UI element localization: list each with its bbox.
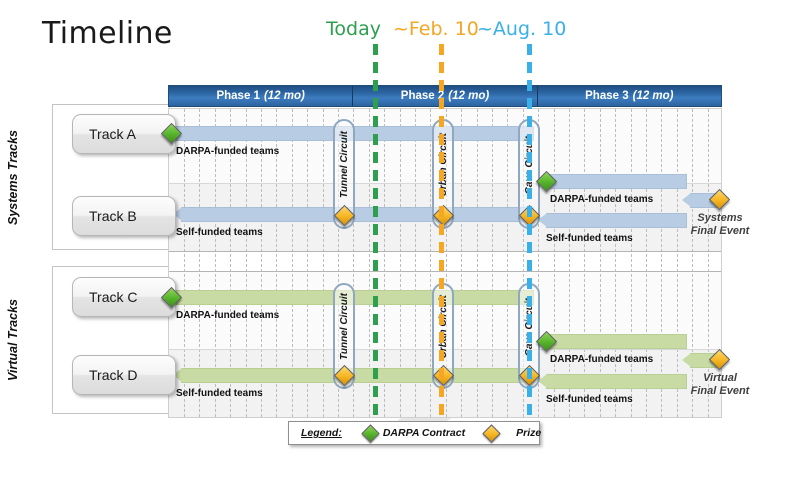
legend-label-prize: Prize <box>516 427 541 439</box>
legend-item-prize: Prize <box>485 427 541 440</box>
row-separator <box>169 251 721 252</box>
circuit-cave-virtual[interactable]: Cave Circuit <box>518 283 540 389</box>
track-box-b[interactable]: Track B <box>72 196 176 236</box>
track-box-d[interactable]: Track D <box>72 355 176 395</box>
gridline-v <box>554 109 555 417</box>
prize-diamond-cave-systems[interactable] <box>518 205 539 226</box>
phase-header-bar: Phase 1 (12 mo) Phase 2 (12 mo) Phase 3 … <box>168 85 722 107</box>
phase-2-duration: (12 mo) <box>448 90 489 102</box>
gridline-v <box>584 109 585 417</box>
caption-track-b-self: Self-funded teams <box>176 227 263 238</box>
circuit-cave-virtual-text: Cave Circuit <box>520 289 538 365</box>
gridline-v <box>646 109 647 417</box>
circuit-urban-systems-label: Urban Circuit <box>438 133 449 196</box>
circuit-tunnel-systems[interactable]: Tunnel Circuit <box>333 119 355 229</box>
legend-box: Legend: DARPA Contract Prize <box>288 421 540 445</box>
phase-2-name: Phase 2 <box>401 90 444 102</box>
circuit-cave-virtual-label: Cave Circuit <box>524 298 535 356</box>
milestone-label-aug: ~Aug. 10 <box>477 18 566 40</box>
systems-final-event-label: Systems Final Event <box>678 212 762 237</box>
caption-track-d-self: Self-funded teams <box>176 388 263 399</box>
group-label-virtual-text: Virtual Tracks <box>6 299 20 381</box>
prize-diamond-urban-virtual[interactable] <box>432 365 453 386</box>
gridline-v <box>631 109 632 417</box>
prize-diamond-tunnel-systems[interactable] <box>333 205 354 226</box>
prize-diamond-cave-virtual[interactable] <box>518 365 539 386</box>
caption-track-d-phase3-self: Self-funded teams <box>546 394 633 405</box>
track-label-b: Track B <box>89 208 137 224</box>
circuit-cave-systems-text: Cave Circuit <box>520 125 538 205</box>
row-band-gap <box>169 251 721 271</box>
legend-item-darpa-contract: DARPA Contract <box>364 427 465 440</box>
bar-track-b-phase3-self[interactable] <box>546 213 687 228</box>
circuit-urban-virtual-text: Urban Circuit <box>434 289 452 365</box>
page-title: Timeline <box>42 16 173 51</box>
group-label-systems-tracks: Systems Tracks <box>2 104 24 250</box>
track-label-d: Track D <box>89 367 137 383</box>
circuit-tunnel-virtual[interactable]: Tunnel Circuit <box>333 283 355 389</box>
circuit-tunnel-systems-label: Tunnel Circuit <box>339 131 350 198</box>
phase-1-name: Phase 1 <box>216 90 259 102</box>
track-box-a[interactable]: Track A <box>72 114 176 154</box>
virtual-final-event-line1: Virtual <box>678 372 762 385</box>
circuit-cave-systems-label: Cave Circuit <box>524 136 535 194</box>
gridline-v <box>661 109 662 417</box>
caption-track-c-phase3-darpa: DARPA-funded teams <box>550 354 653 365</box>
gridline-v <box>615 109 616 417</box>
track-label-c: Track C <box>89 289 137 305</box>
circuit-tunnel-virtual-label: Tunnel Circuit <box>339 293 350 360</box>
green-diamond-icon <box>361 424 379 442</box>
bar-track-d-phase3-self[interactable] <box>546 374 687 389</box>
bar-track-a-phase3-darpa[interactable] <box>546 174 687 189</box>
track-label-a: Track A <box>89 126 136 142</box>
prize-diamond-tunnel-virtual[interactable] <box>333 365 354 386</box>
phase-3-name: Phase 3 <box>585 90 628 102</box>
orange-diamond-icon <box>482 424 500 442</box>
bar-track-b-self[interactable] <box>181 207 534 222</box>
caption-track-c-darpa: DARPA-funded teams <box>176 310 279 321</box>
caption-track-a-darpa: DARPA-funded teams <box>176 146 279 157</box>
caption-track-b-phase3-self: Self-funded teams <box>546 233 633 244</box>
circuit-tunnel-virtual-text: Tunnel Circuit <box>335 289 353 365</box>
bar-track-c-phase3-darpa[interactable] <box>546 334 687 349</box>
virtual-final-event-label: Virtual Final Event <box>678 372 762 397</box>
gridline-v <box>600 109 601 417</box>
circuit-urban-systems[interactable]: Urban Circuit <box>432 119 454 229</box>
systems-final-event-line2: Final Event <box>678 225 762 238</box>
legend-title: Legend: <box>301 427 342 439</box>
circuit-urban-systems-text: Urban Circuit <box>434 125 452 205</box>
caption-track-a-phase3-darpa: DARPA-funded teams <box>550 194 653 205</box>
circuit-cave-systems[interactable]: Cave Circuit <box>518 119 540 229</box>
systems-final-event-line1: Systems <box>678 212 762 225</box>
circuit-urban-virtual[interactable]: Urban Circuit <box>432 283 454 389</box>
phase-cell-3[interactable]: Phase 3 (12 mo) <box>538 86 721 106</box>
circuit-urban-virtual-label: Urban Circuit <box>438 295 449 358</box>
phase-cell-1[interactable]: Phase 1 (12 mo) <box>169 86 353 106</box>
legend-label-darpa-contract: DARPA Contract <box>383 427 465 439</box>
prize-diamond-urban-systems[interactable] <box>432 205 453 226</box>
phase-cell-2[interactable]: Phase 2 (12 mo) <box>353 86 537 106</box>
gridline-v <box>708 109 709 417</box>
gridline-v <box>692 109 693 417</box>
group-label-virtual-tracks: Virtual Tracks <box>2 266 24 414</box>
gridline-v <box>677 109 678 417</box>
phase-3-duration: (12 mo) <box>633 90 674 102</box>
milestone-label-today: Today <box>326 18 381 40</box>
circuit-tunnel-systems-text: Tunnel Circuit <box>335 125 353 205</box>
bar-track-d-self[interactable] <box>181 368 534 383</box>
milestone-label-feb: ~Feb. 10 <box>393 18 479 40</box>
phase-1-duration: (12 mo) <box>264 90 305 102</box>
row-separator <box>169 271 721 272</box>
virtual-final-event-line2: Final Event <box>678 385 762 398</box>
gridline-v <box>569 109 570 417</box>
group-label-systems-text: Systems Tracks <box>6 130 20 225</box>
